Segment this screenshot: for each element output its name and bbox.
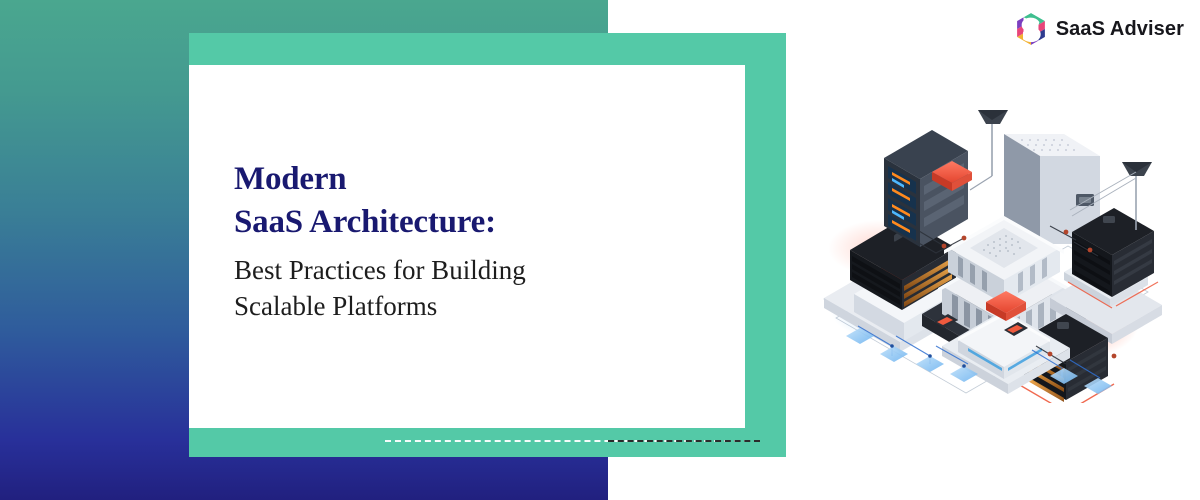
isometric-cloud-datacenter-illustration: [818, 98, 1166, 403]
brand-logo[interactable]: SaaS Adviser: [1014, 12, 1184, 46]
headline-group: Modern SaaS Architecture: Best Practices…: [234, 158, 634, 324]
page-title: Modern SaaS Architecture:: [234, 158, 634, 244]
accent-block-top: [189, 33, 786, 65]
page-subtitle: Best Practices for Building Scalable Pla…: [234, 252, 634, 324]
brand-logo-text: SaaS Adviser: [1056, 18, 1184, 41]
accent-block-bottom: [189, 428, 786, 457]
banner-canvas: Modern SaaS Architecture: Best Practices…: [0, 0, 1200, 500]
hexagon-s-logo-icon: [1014, 12, 1048, 46]
divider-dashed-dark: [608, 440, 760, 442]
